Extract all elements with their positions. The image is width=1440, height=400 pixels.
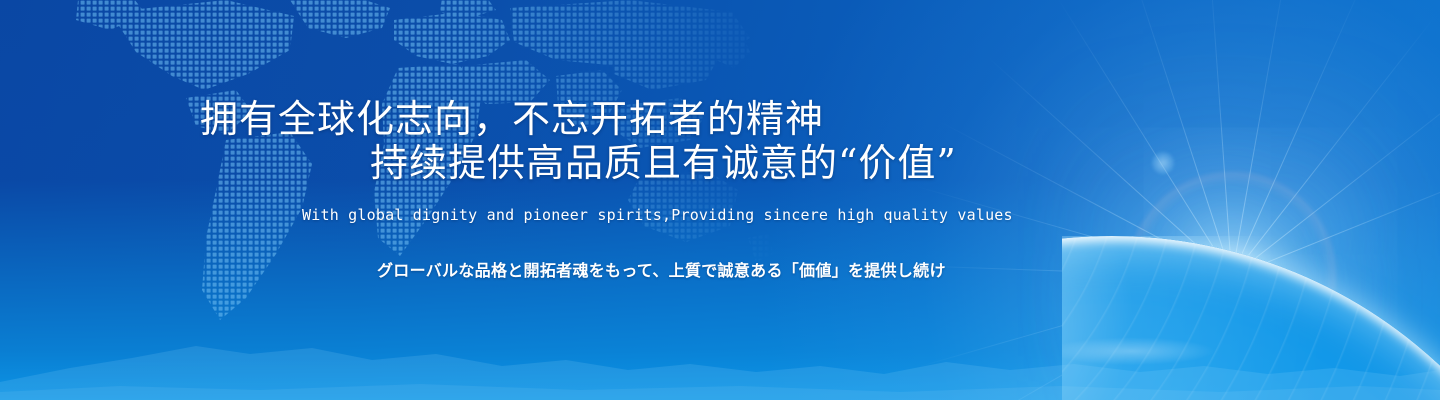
subheading-english: With global dignity and pioneer spirits,… xyxy=(302,206,1013,224)
headline-line-2: 持续提供高品质且有诚意的“价值” xyxy=(370,132,957,187)
philosophy-banner: 拥有全球化志向，不忘开拓者的精神 持续提供高品质且有诚意的“价值” With g… xyxy=(0,0,1440,400)
subheading-japanese: グローバルな品格と開拓者魂をもって、上質で誠意ある「価値」を提供し続け xyxy=(377,257,946,281)
banner-copy: 拥有全球化志向，不忘开拓者的精神 持续提供高品质且有诚意的“价值” With g… xyxy=(0,0,1120,400)
lens-flare-orb xyxy=(1152,152,1174,174)
